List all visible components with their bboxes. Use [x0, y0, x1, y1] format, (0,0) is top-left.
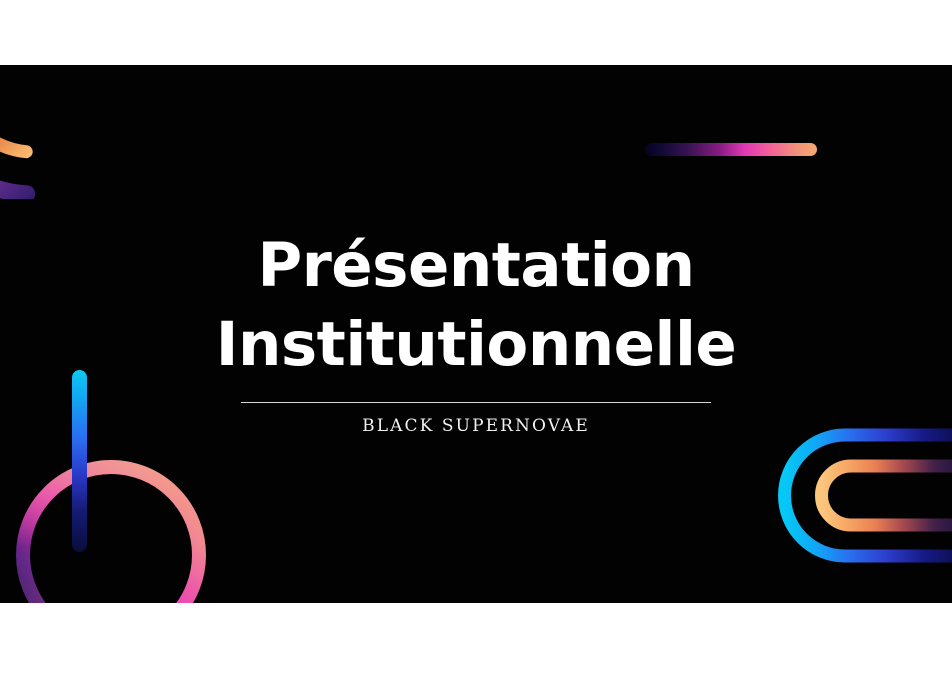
title-block: Présentation Institutionnelle BLACK SUPE…: [0, 227, 952, 436]
presentation-slide: Présentation Institutionnelle BLACK SUPE…: [0, 65, 952, 603]
slide-subtitle: BLACK SUPERNOVAE: [0, 416, 952, 436]
concentric-arcs-decoration: [0, 65, 158, 199]
nested-u-brackets-decoration: [773, 428, 952, 570]
circle-ring-decoration: [13, 457, 209, 603]
slide-title: Présentation Institutionnelle: [0, 227, 952, 384]
slide-page: Présentation Institutionnelle BLACK SUPE…: [0, 0, 952, 673]
gradient-pill-bar-decoration: [645, 143, 817, 156]
title-divider: [241, 402, 711, 403]
